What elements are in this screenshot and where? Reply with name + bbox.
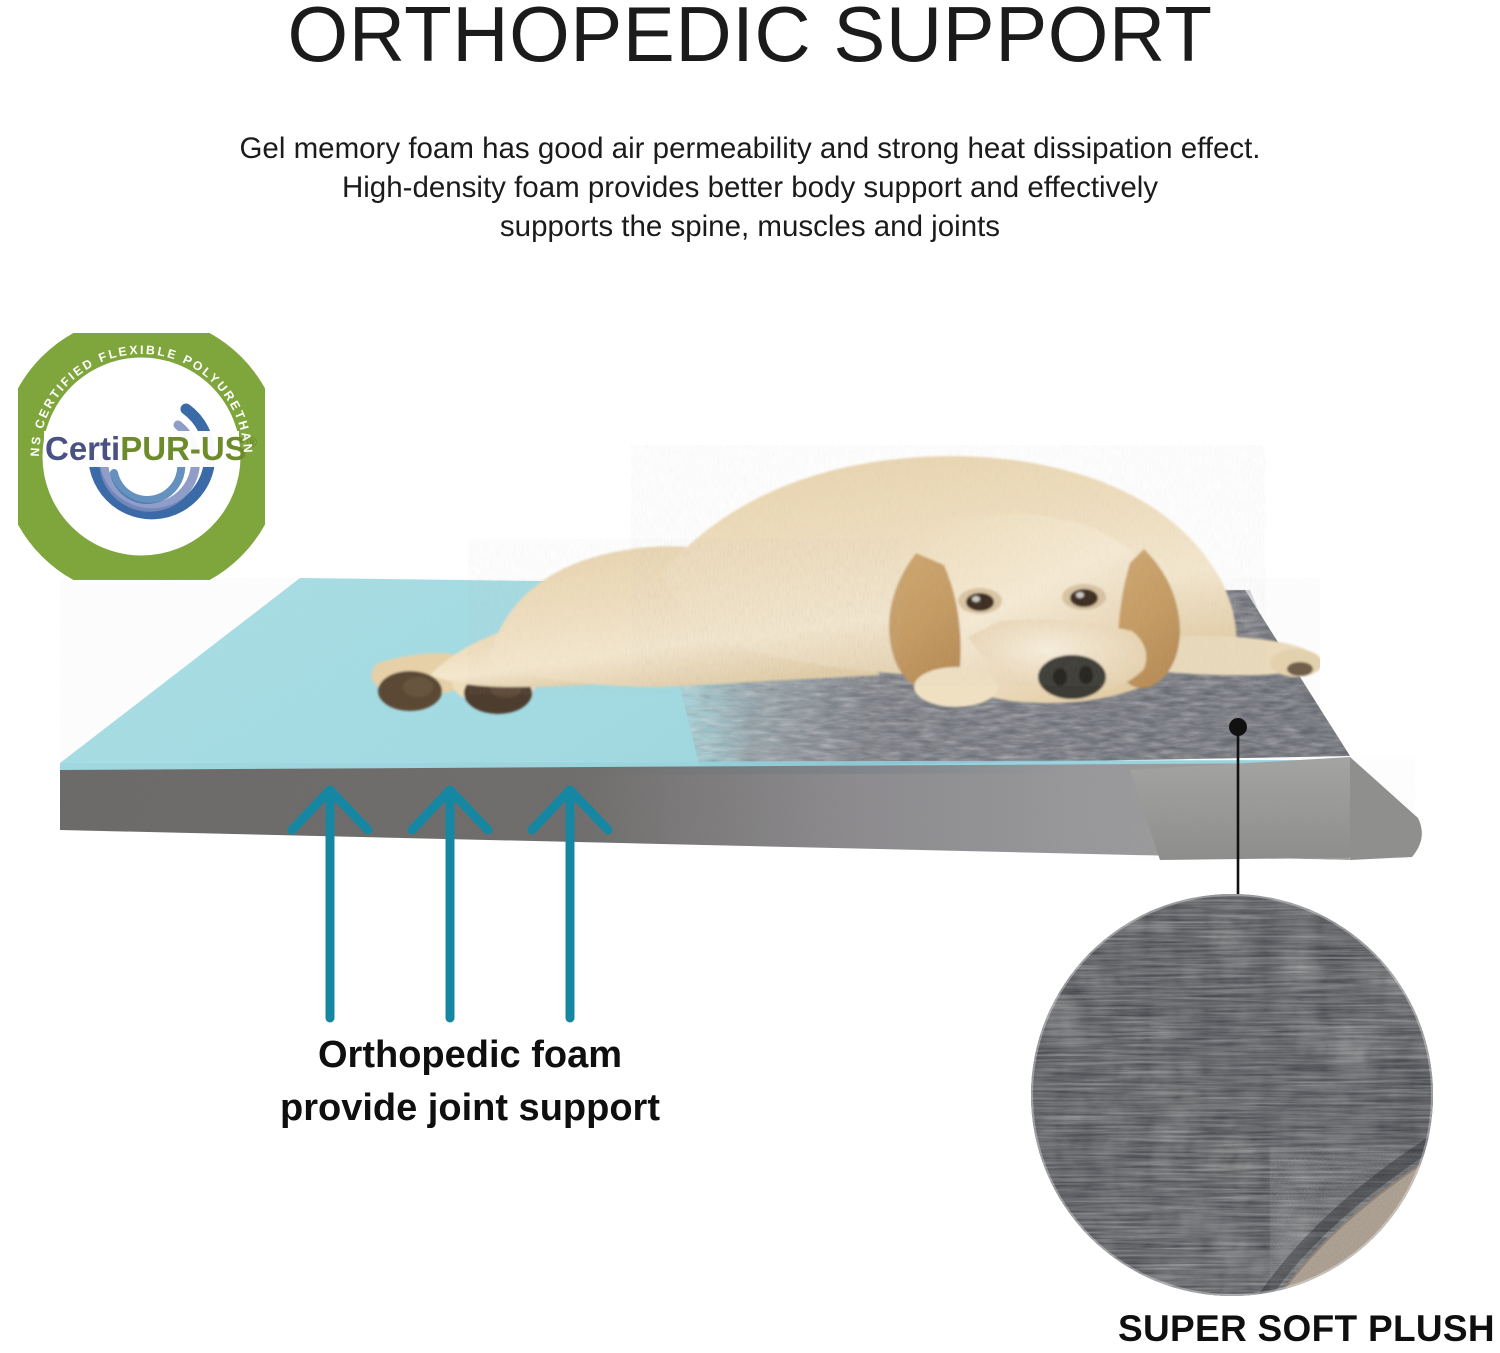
certipur-us-badge: CertiPUR-US® CONTAINS CERTIFIED FLEXIBLE… bbox=[18, 333, 265, 580]
product-infographic: ORTHOPEDIC SUPPORT Gel memory foam has g… bbox=[0, 0, 1500, 1353]
bed-corner bbox=[1350, 757, 1422, 860]
arrow-3 bbox=[532, 790, 608, 1018]
closeup-leader-line bbox=[1225, 715, 1255, 910]
arrow-2 bbox=[412, 790, 488, 1018]
caption-left-line-2: provide joint support bbox=[190, 1082, 750, 1135]
subtitle-block: Gel memory foam has good air permeabilit… bbox=[0, 129, 1500, 246]
support-arrows bbox=[280, 770, 640, 1030]
page-title: ORTHOPEDIC SUPPORT bbox=[0, 0, 1500, 72]
arrow-1 bbox=[292, 790, 368, 1018]
dog-bed-illustration bbox=[60, 560, 1480, 900]
subtitle-line-3: supports the spine, muscles and joints bbox=[0, 207, 1500, 246]
badge-wordmark-certi: Certi bbox=[45, 430, 120, 467]
caption-left-line-1: Orthopedic foam bbox=[190, 1029, 750, 1082]
plush-surface bbox=[650, 580, 1370, 780]
subtitle-line-2: High-density foam provides better body s… bbox=[0, 168, 1500, 207]
super-soft-plush-caption: SUPER SOFT PLUSH bbox=[1118, 1307, 1500, 1351]
svg-text:CertiPUR-US®: CertiPUR-US® bbox=[45, 430, 258, 467]
orthopedic-foam-caption: Orthopedic foam provide joint support bbox=[190, 1029, 750, 1135]
plush-closeup-circle bbox=[1030, 893, 1435, 1298]
subtitle-line-1: Gel memory foam has good air permeabilit… bbox=[0, 129, 1500, 168]
badge-wordmark-purus: PUR-US bbox=[120, 430, 247, 467]
